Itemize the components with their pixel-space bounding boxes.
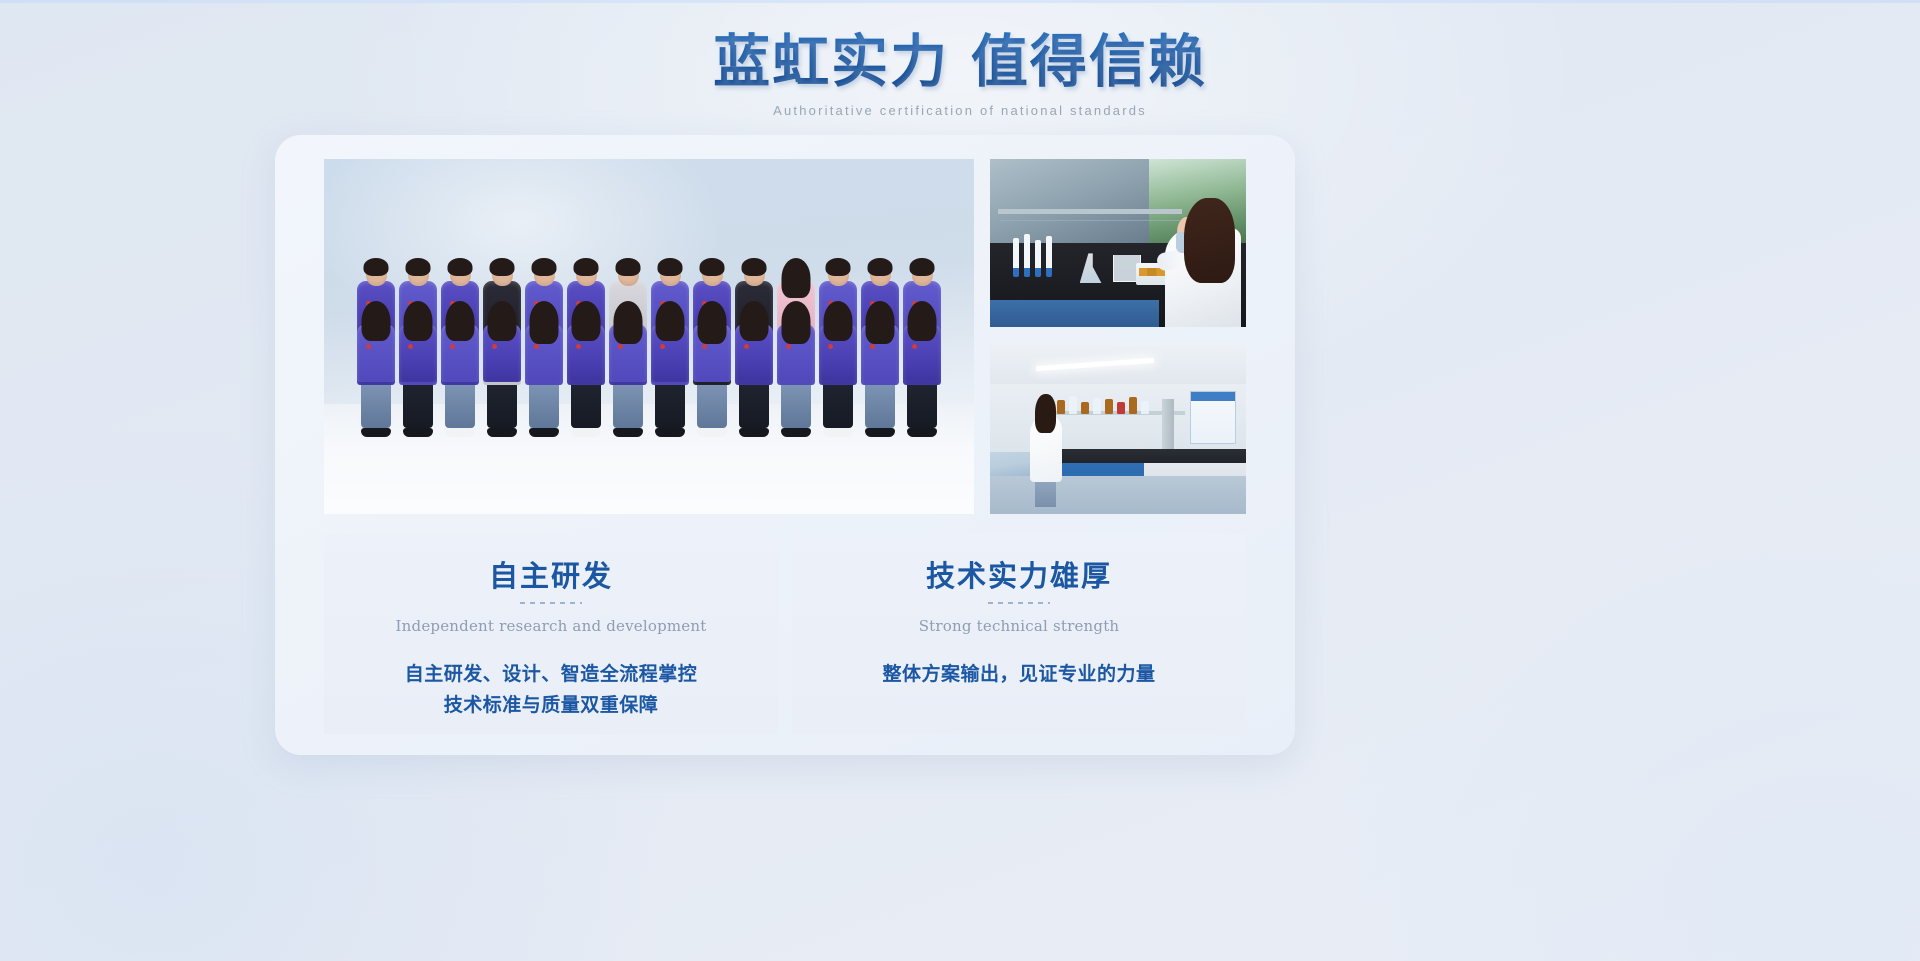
team-member — [902, 305, 942, 437]
dotted-divider — [988, 602, 1050, 604]
team-rows — [324, 159, 974, 514]
feature-cards: 自主研发 Independent research and developmen… — [324, 534, 1246, 734]
lab-bench-front-panel — [990, 300, 1159, 327]
card-body-line: 自主研发、设计、智造全流程掌控 — [342, 659, 760, 689]
team-member — [524, 305, 564, 437]
card-title: 技术实力雄厚 — [810, 560, 1228, 593]
dotted-divider — [520, 602, 582, 604]
pipette-stand — [1013, 234, 1052, 277]
card-title: 自主研发 — [342, 560, 760, 593]
lab-technician-pipetting-photo — [990, 159, 1246, 327]
media-gallery — [324, 159, 1246, 514]
technician-hair — [1184, 198, 1235, 283]
card-body-line: 技术标准与质量双重保障 — [342, 690, 760, 720]
top-accent-line — [0, 0, 1920, 3]
lab-researcher — [1026, 394, 1070, 507]
team-member — [650, 305, 690, 437]
researcher-hair — [1035, 394, 1056, 432]
team-member — [692, 305, 732, 437]
team-member — [734, 305, 774, 437]
researcher-legs — [1035, 478, 1057, 507]
laboratory-room-photo — [990, 343, 1246, 514]
team-member — [482, 305, 522, 437]
feature-card-technical-strength[interactable]: 技术实力雄厚 Strong technical strength 整体方案输出，… — [792, 534, 1246, 734]
team-member — [356, 305, 396, 437]
team-member — [398, 305, 438, 437]
team-member — [776, 305, 816, 437]
card-body-line: 整体方案输出，见证专业的力量 — [810, 659, 1228, 689]
team-member — [860, 305, 900, 437]
safety-notice-poster — [1190, 391, 1236, 444]
card-body: 自主研发、设计、智造全流程掌控 技术标准与质量双重保障 — [342, 659, 760, 720]
content-panel: 自主研发 Independent research and developmen… — [275, 135, 1295, 755]
page-subtitle: Authoritative certification of national … — [0, 103, 1920, 118]
team-member — [818, 305, 858, 437]
section-heading: 蓝虹实力 值得信赖 Authoritative certification of… — [0, 26, 1920, 118]
team-member — [566, 305, 606, 437]
card-subtitle: Strong technical strength — [810, 617, 1228, 635]
reagent-bottles — [1057, 396, 1149, 414]
card-subtitle: Independent research and development — [342, 617, 760, 635]
team-member — [608, 305, 648, 437]
team-member — [440, 305, 480, 437]
feature-card-independent-rd[interactable]: 自主研发 Independent research and developmen… — [324, 534, 778, 734]
company-team-group-photo — [324, 159, 974, 514]
card-body: 整体方案输出，见证专业的力量 — [810, 659, 1228, 689]
page-title: 蓝虹实力 值得信赖 — [0, 26, 1920, 97]
lab-technician — [1144, 189, 1241, 327]
lab-ceiling — [990, 343, 1246, 389]
